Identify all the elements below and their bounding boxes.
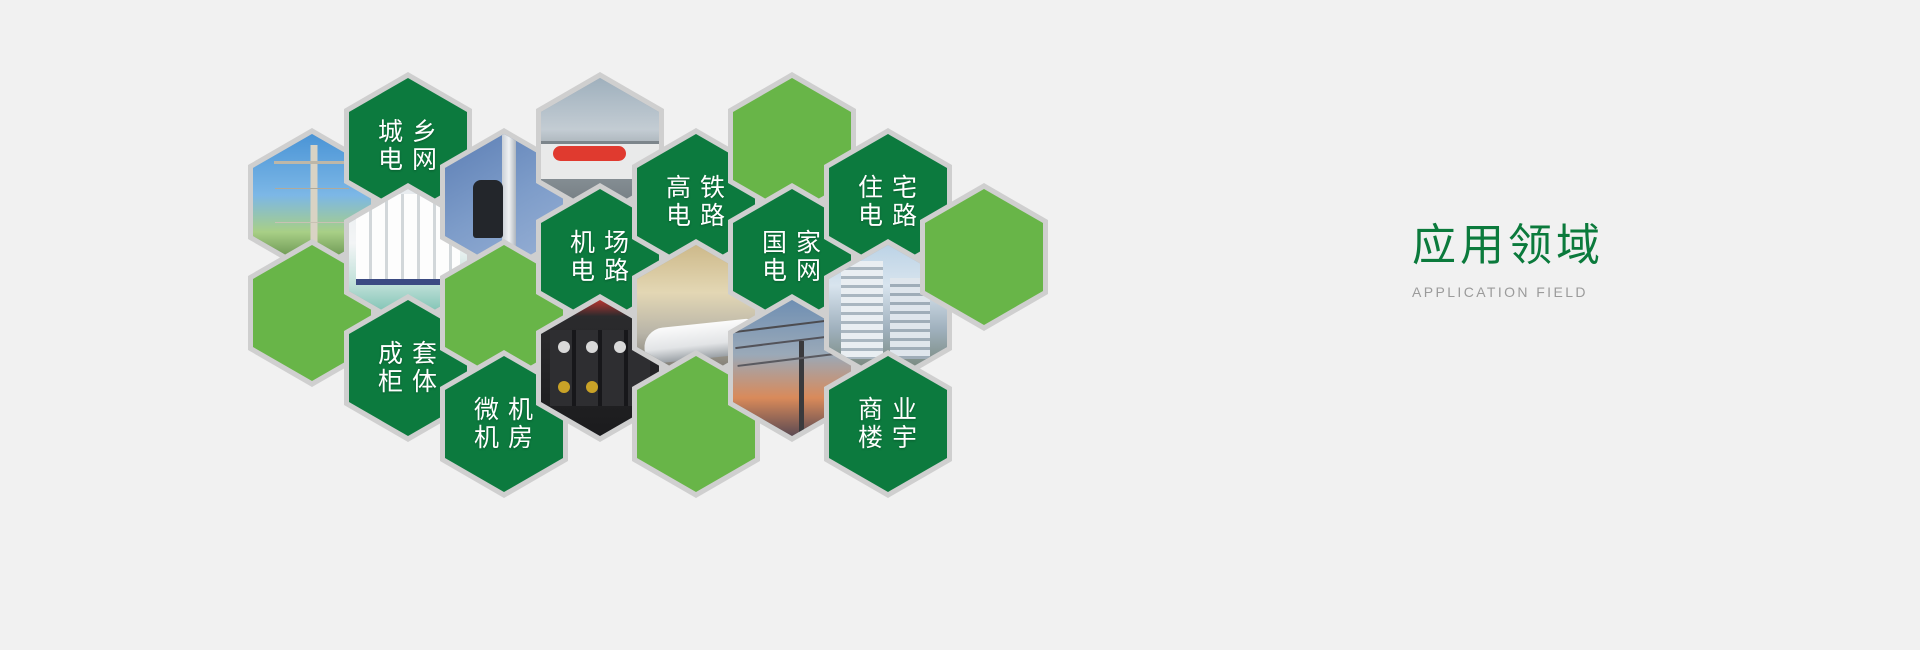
hex-label-text: 机 场 电 路 bbox=[570, 229, 630, 286]
hex-label-text: 高 铁 电 路 bbox=[666, 174, 726, 231]
heading-block: 应用领域 APPLICATION FIELD bbox=[1412, 222, 1604, 300]
page-subtitle: APPLICATION FIELD bbox=[1412, 284, 1604, 300]
hex-inner: 商 业 楼 宇 bbox=[829, 356, 947, 492]
hex-label-text: 国 家 电 网 bbox=[762, 229, 822, 286]
hex-label-text: 住 宅 电 路 bbox=[858, 174, 918, 231]
hex-label-text: 微 机 机 房 bbox=[474, 396, 534, 453]
hex-label-text: 成 套 柜 体 bbox=[378, 340, 438, 397]
hex-inner bbox=[925, 189, 1043, 325]
hex-label-text: 城 乡 电 网 bbox=[378, 118, 438, 175]
hex-label-text: 商 业 楼 宇 bbox=[858, 396, 918, 453]
page-title: 应用领域 bbox=[1412, 222, 1604, 270]
application-field-banner: 城 乡 电 网成 套 柜 体微 机 机 房机 场 电 路高 铁 电 路国 家 电… bbox=[0, 0, 1920, 650]
